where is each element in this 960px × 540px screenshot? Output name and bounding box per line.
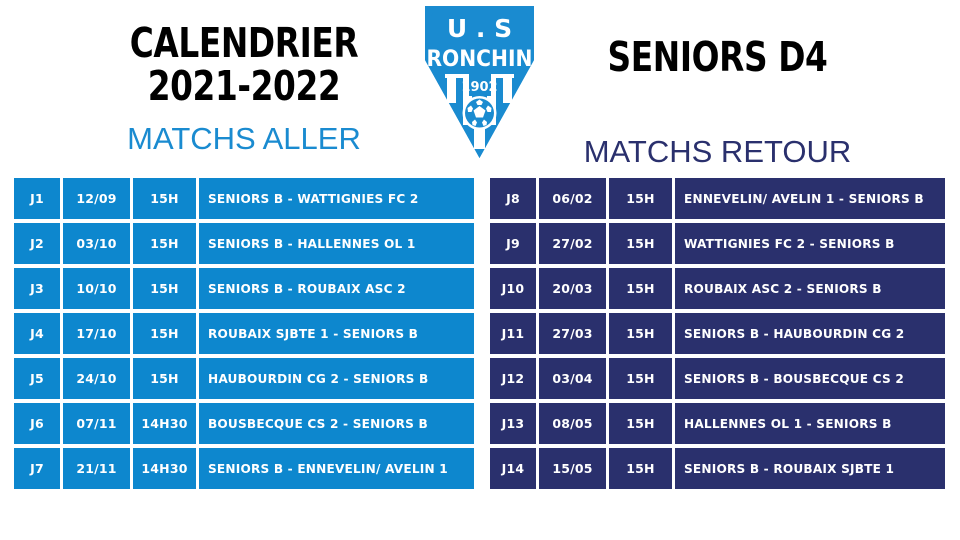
cell-matchday: J3: [14, 268, 60, 309]
page-title-line2: 2021-2022: [60, 65, 428, 108]
fixture-text: ENNEVELIN/ AVELIN 1 - SENIORS B: [684, 191, 924, 206]
fixture-text: SENIORS B - ROUBAIX SJBTE 1: [684, 461, 894, 476]
cell-matchday: J10: [490, 268, 536, 309]
cell-matchday: J5: [14, 358, 60, 399]
cell-date: 24/10: [63, 358, 130, 399]
subtitle-matchs-retour: MATCHS RETOUR: [490, 134, 945, 170]
table-row: J11 27/03 15H SENIORS B - HAUBOURDIN CG …: [490, 313, 945, 354]
cell-fixture: ROUBAIX SJBTE 1 - SENIORS B: [199, 313, 474, 354]
cell-time: 15H: [609, 313, 672, 354]
cell-matchday: J1: [14, 178, 60, 219]
cell-date: 27/02: [539, 223, 606, 264]
table-row: J3 10/10 15H SENIORS B - ROUBAIX ASC 2: [14, 268, 474, 309]
table-row: J1 12/09 15H SENIORS B - WATTIGNIES FC 2: [14, 178, 474, 219]
cell-time: 14H30: [133, 403, 196, 444]
cell-date: 27/03: [539, 313, 606, 354]
cell-fixture: SENIORS B - HAUBOURDIN CG 2: [675, 313, 945, 354]
table-row: J9 27/02 15H WATTIGNIES FC 2 - SENIORS B: [490, 223, 945, 264]
cell-fixture: SENIORS B - HALLENNES OL 1: [199, 223, 474, 264]
cell-date: 17/10: [63, 313, 130, 354]
cell-date: 20/03: [539, 268, 606, 309]
division-title: SENIORS D4: [536, 22, 900, 79]
table-row: J6 07/11 14H30 BOUSBECQUE CS 2 - SENIORS…: [14, 403, 474, 444]
cell-time: 14H30: [133, 448, 196, 489]
cell-fixture: SENIORS B - ENNEVELIN/ AVELIN 1: [199, 448, 474, 489]
cell-date: 10/10: [63, 268, 130, 309]
cell-fixture: HAUBOURDIN CG 2 - SENIORS B: [199, 358, 474, 399]
cell-date: 15/05: [539, 448, 606, 489]
cell-matchday: J4: [14, 313, 60, 354]
fixture-text: ROUBAIX SJBTE 1 - SENIORS B: [208, 326, 418, 341]
cell-fixture: BOUSBECQUE CS 2 - SENIORS B: [199, 403, 474, 444]
matchs-retour-table: J8 06/02 15H ENNEVELIN/ AVELIN 1 - SENIO…: [490, 178, 945, 493]
cell-fixture: ENNEVELIN/ AVELIN 1 - SENIORS B: [675, 178, 945, 219]
cell-fixture: SENIORS B - ROUBAIX ASC 2: [199, 268, 474, 309]
table-row: J10 20/03 15H ROUBAIX ASC 2 - SENIORS B: [490, 268, 945, 309]
cell-fixture: SENIORS B - WATTIGNIES FC 2: [199, 178, 474, 219]
cell-matchday: J11: [490, 313, 536, 354]
cell-time: 15H: [133, 178, 196, 219]
fixture-text: SENIORS B - HALLENNES OL 1: [208, 236, 416, 251]
cell-fixture: SENIORS B - ROUBAIX SJBTE 1: [675, 448, 945, 489]
fixture-text: ROUBAIX ASC 2 - SENIORS B: [684, 281, 882, 296]
cell-time: 15H: [609, 403, 672, 444]
cell-date: 21/11: [63, 448, 130, 489]
cell-time: 15H: [609, 358, 672, 399]
table-row: J14 15/05 15H SENIORS B - ROUBAIX SJBTE …: [490, 448, 945, 489]
fixture-text: HAUBOURDIN CG 2 - SENIORS B: [208, 371, 428, 386]
subtitle-matchs-aller: MATCHS ALLER: [14, 121, 474, 157]
cell-time: 15H: [609, 223, 672, 264]
matchs-aller-table: J1 12/09 15H SENIORS B - WATTIGNIES FC 2…: [14, 178, 474, 493]
cell-fixture: SENIORS B - BOUSBECQUE CS 2: [675, 358, 945, 399]
cell-date: 08/05: [539, 403, 606, 444]
fixture-text: WATTIGNIES FC 2 - SENIORS B: [684, 236, 895, 251]
table-row: J13 08/05 15H HALLENNES OL 1 - SENIORS B: [490, 403, 945, 444]
cell-time: 15H: [133, 223, 196, 264]
fixture-text: SENIORS B - ENNEVELIN/ AVELIN 1: [208, 461, 448, 476]
cell-matchday: J6: [14, 403, 60, 444]
calendar-title-block: CALENDRIER 2021-2022 MATCHS ALLER: [14, 22, 474, 157]
cell-time: 15H: [609, 268, 672, 309]
cell-fixture: ROUBAIX ASC 2 - SENIORS B: [675, 268, 945, 309]
table-row: J12 03/04 15H SENIORS B - BOUSBECQUE CS …: [490, 358, 945, 399]
cell-matchday: J12: [490, 358, 536, 399]
fixture-text: SENIORS B - ROUBAIX ASC 2: [208, 281, 406, 296]
fixture-text: SENIORS B - HAUBOURDIN CG 2: [684, 326, 904, 341]
fixture-text: SENIORS B - WATTIGNIES FC 2: [208, 191, 419, 206]
cell-time: 15H: [609, 448, 672, 489]
cell-date: 03/10: [63, 223, 130, 264]
fixture-text: HALLENNES OL 1 - SENIORS B: [684, 416, 892, 431]
cell-time: 15H: [609, 178, 672, 219]
cell-date: 12/09: [63, 178, 130, 219]
fixture-text: SENIORS B - BOUSBECQUE CS 2: [684, 371, 904, 386]
cell-time: 15H: [133, 268, 196, 309]
cell-matchday: J14: [490, 448, 536, 489]
cell-matchday: J7: [14, 448, 60, 489]
table-row: J4 17/10 15H ROUBAIX SJBTE 1 - SENIORS B: [14, 313, 474, 354]
table-row: J5 24/10 15H HAUBOURDIN CG 2 - SENIORS B: [14, 358, 474, 399]
cell-matchday: J9: [490, 223, 536, 264]
cell-matchday: J13: [490, 403, 536, 444]
cell-date: 06/02: [539, 178, 606, 219]
division-title-block: SENIORS D4 MATCHS RETOUR: [490, 22, 945, 170]
cell-matchday: J8: [490, 178, 536, 219]
cell-fixture: WATTIGNIES FC 2 - SENIORS B: [675, 223, 945, 264]
table-row: J8 06/02 15H ENNEVELIN/ AVELIN 1 - SENIO…: [490, 178, 945, 219]
cell-date: 03/04: [539, 358, 606, 399]
table-row: J7 21/11 14H30 SENIORS B - ENNEVELIN/ AV…: [14, 448, 474, 489]
table-row: J2 03/10 15H SENIORS B - HALLENNES OL 1: [14, 223, 474, 264]
header: CALENDRIER 2021-2022 MATCHS ALLER 1902: [0, 0, 960, 178]
fixture-text: BOUSBECQUE CS 2 - SENIORS B: [208, 416, 428, 431]
cell-time: 15H: [133, 313, 196, 354]
cell-fixture: HALLENNES OL 1 - SENIORS B: [675, 403, 945, 444]
cell-date: 07/11: [63, 403, 130, 444]
cell-time: 15H: [133, 358, 196, 399]
page-title-line1: CALENDRIER: [60, 22, 428, 65]
cell-matchday: J2: [14, 223, 60, 264]
